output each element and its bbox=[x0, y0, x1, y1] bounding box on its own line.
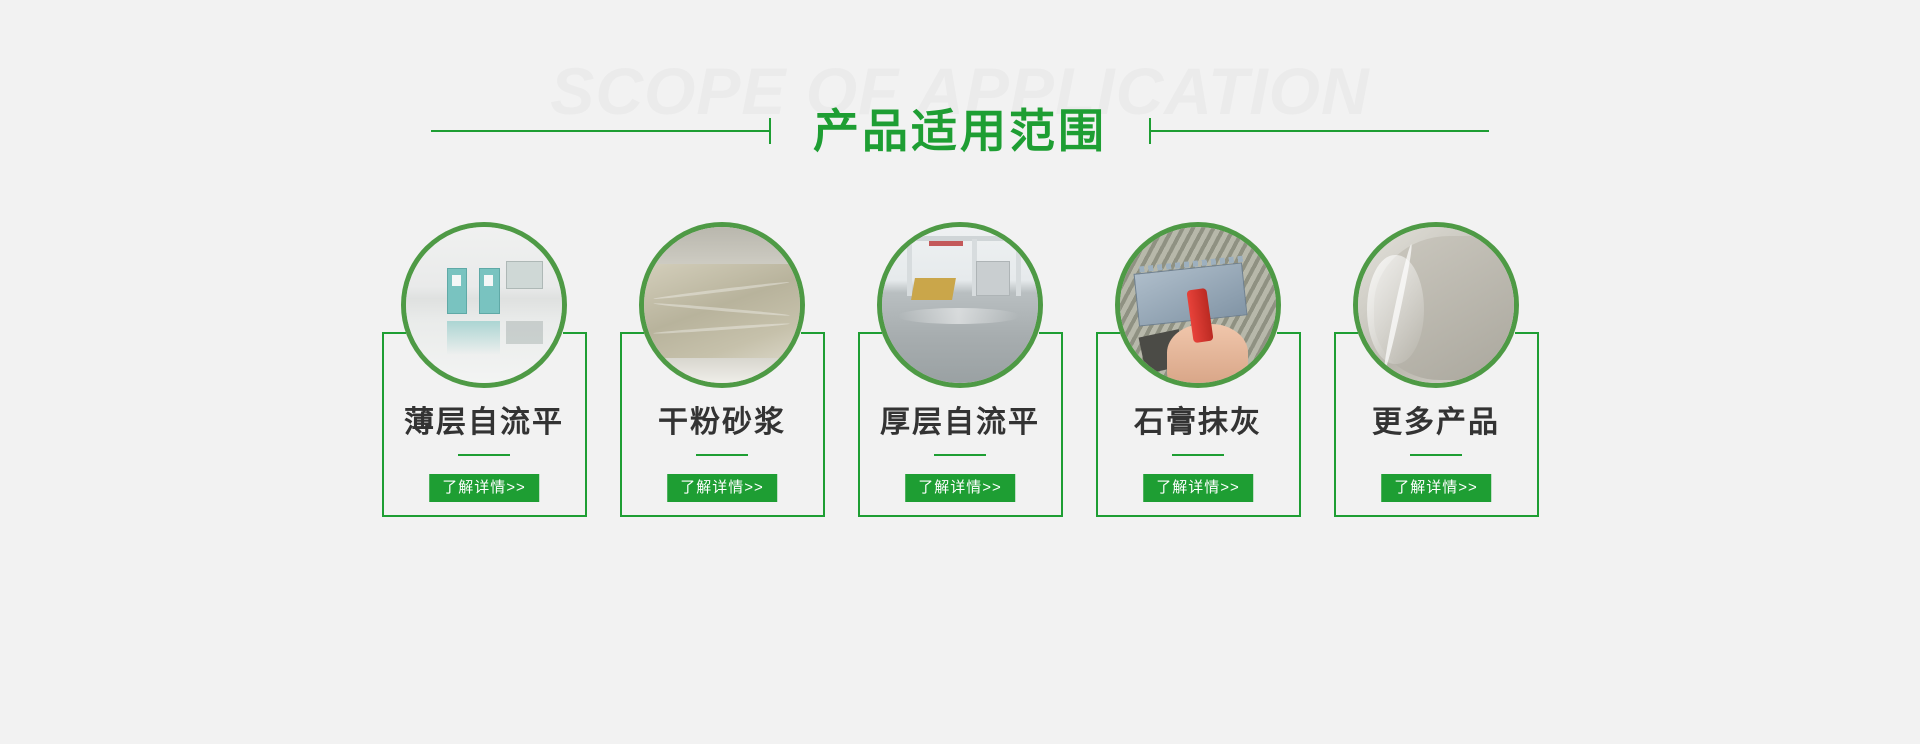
bag-fold-shape bbox=[653, 302, 790, 317]
product-card-list: 薄层自流平 了解详情>> 干粉砂浆 了解详情>> bbox=[0, 222, 1920, 517]
card-title: 石膏抹灰 bbox=[1096, 408, 1301, 438]
learn-more-button[interactable]: 了解详情>> bbox=[429, 474, 539, 502]
bag-bottom-shape bbox=[644, 358, 800, 383]
title-tick-right-icon bbox=[1149, 118, 1151, 144]
card-image-circle bbox=[877, 222, 1043, 388]
card-title: 干粉砂浆 bbox=[620, 408, 825, 438]
floor-reflection-shape bbox=[447, 321, 500, 355]
wall-window-shape bbox=[506, 261, 543, 289]
bag-top-shape bbox=[644, 227, 800, 264]
product-card[interactable]: 干粉砂浆 了解详情>> bbox=[620, 222, 825, 517]
card-title: 更多产品 bbox=[1334, 408, 1539, 438]
title-rule-right bbox=[1149, 130, 1489, 132]
card-image-circle bbox=[1115, 222, 1281, 388]
bag-fold-shape bbox=[654, 281, 791, 301]
thick-layer-self-leveling-warehouse-photo bbox=[882, 227, 1038, 383]
product-card[interactable]: 更多产品 了解详情>> bbox=[1334, 222, 1539, 517]
card-image-circle bbox=[401, 222, 567, 388]
column-shape bbox=[907, 239, 912, 295]
card-divider bbox=[696, 454, 748, 456]
door-window-shape bbox=[484, 275, 493, 287]
card-image-circle bbox=[1353, 222, 1519, 388]
learn-more-button[interactable]: 了解详情>> bbox=[905, 474, 1015, 502]
card-title: 薄层自流平 bbox=[382, 408, 587, 438]
product-card[interactable]: 石膏抹灰 了解详情>> bbox=[1096, 222, 1301, 517]
machine-shape bbox=[911, 278, 955, 300]
learn-more-button[interactable]: 了解详情>> bbox=[1381, 474, 1491, 502]
card-image-circle bbox=[639, 222, 805, 388]
column-shape bbox=[1016, 239, 1021, 295]
roller-gate-shape bbox=[976, 261, 1010, 295]
floor-shine-shape bbox=[898, 308, 1020, 324]
product-card[interactable]: 薄层自流平 了解详情>> bbox=[382, 222, 587, 517]
product-card[interactable]: 厚层自流平 了解详情>> bbox=[858, 222, 1063, 517]
door-shape bbox=[479, 268, 499, 315]
red-beam-shape bbox=[929, 241, 963, 246]
page-title: 产品适用范围 bbox=[771, 108, 1149, 154]
dry-powder-mortar-bag-photo bbox=[644, 227, 800, 383]
door-window-shape bbox=[452, 275, 461, 287]
card-title: 厚层自流平 bbox=[858, 408, 1063, 438]
learn-more-button[interactable]: 了解详情>> bbox=[1143, 474, 1253, 502]
thin-layer-self-leveling-floor-photo bbox=[406, 227, 562, 383]
learn-more-button[interactable]: 了解详情>> bbox=[667, 474, 777, 502]
section-header: SCOPE OF APPLICATION 产品适用范围 bbox=[0, 0, 1920, 200]
material-gloss-shape bbox=[1367, 255, 1423, 364]
card-divider bbox=[1172, 454, 1224, 456]
gypsum-plaster-trowel-photo bbox=[1120, 227, 1276, 383]
card-divider bbox=[458, 454, 510, 456]
bag-fold-shape bbox=[653, 322, 790, 335]
title-row: 产品适用范围 bbox=[0, 96, 1920, 166]
title-rule-left bbox=[431, 130, 771, 132]
more-products-material-photo bbox=[1358, 227, 1514, 383]
door-shape bbox=[447, 268, 467, 315]
floor-reflection-shape bbox=[506, 321, 543, 344]
card-divider bbox=[1410, 454, 1462, 456]
card-divider bbox=[934, 454, 986, 456]
